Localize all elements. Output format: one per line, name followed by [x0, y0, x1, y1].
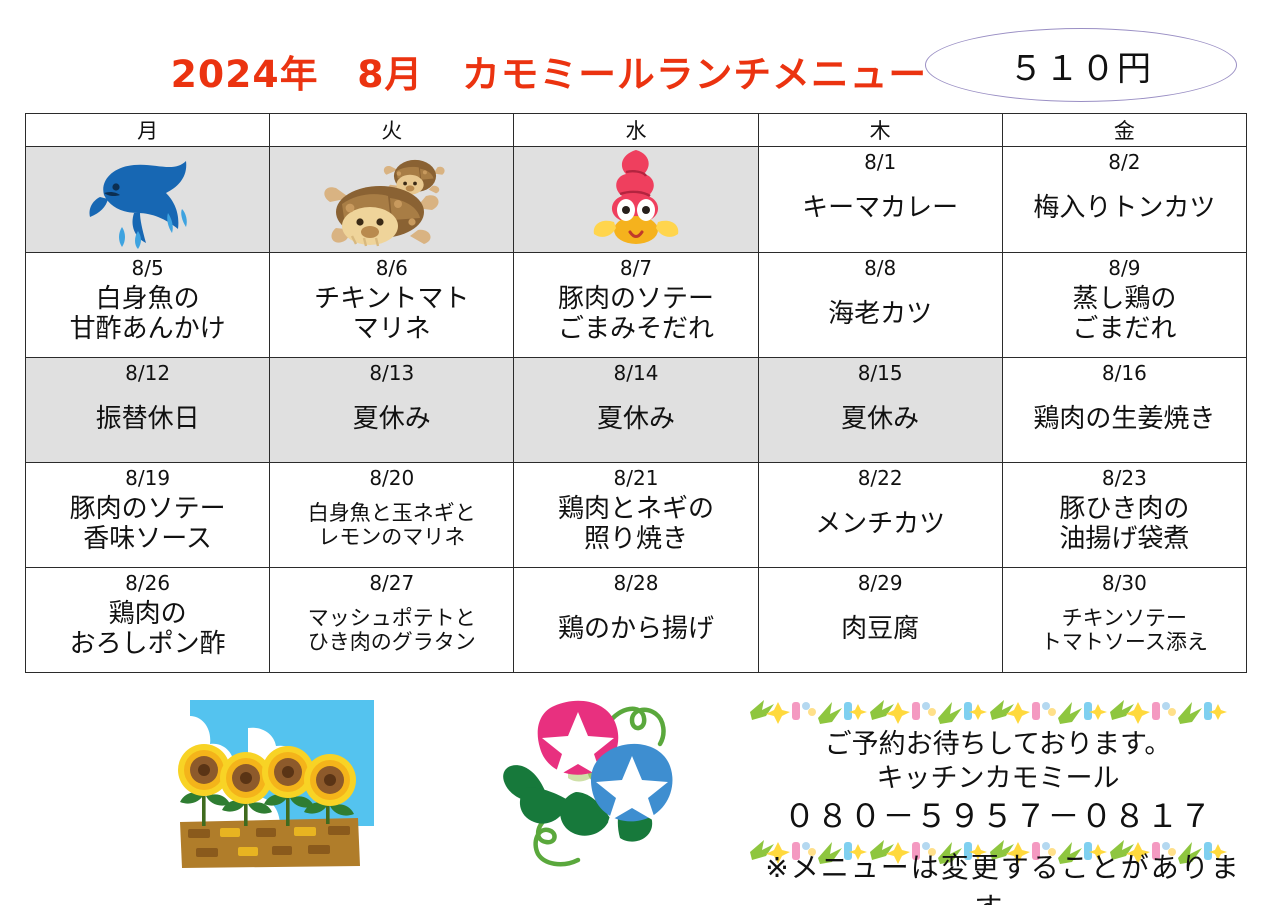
calendar-day-cell: 8/23豚ひき肉の 油揚げ袋煮 — [1002, 463, 1246, 568]
day-number: 8/14 — [514, 358, 757, 384]
day-number: 8/20 — [270, 463, 513, 489]
menu-change-note: ※メニューは変更することがあります。 — [748, 846, 1258, 905]
calendar-day-cell: 8/9蒸し鶏の ごまだれ — [1002, 253, 1246, 358]
calendar-day-cell: 8/5白身魚の 甘酢あんかけ — [26, 253, 270, 358]
phone-number[interactable]: ０８０－５９５７－０８１７ — [748, 796, 1248, 836]
menu-item-label: 鶏肉の おろしポン酢 — [26, 594, 269, 666]
weekday-header-fri: 金 — [1002, 114, 1246, 147]
menu-item-label: チキントマト マリネ — [270, 279, 513, 351]
calendar-week-row: 8/5白身魚の 甘酢あんかけ8/6チキントマト マリネ8/7豚肉のソテー ごまみ… — [26, 253, 1247, 358]
calendar-day-cell: 8/19豚肉のソテー 香味ソース — [26, 463, 270, 568]
calendar-day-cell: 8/15夏休み — [758, 358, 1002, 463]
day-number: 8/2 — [1003, 147, 1246, 173]
crab-shell-illustration-graphic — [514, 147, 757, 252]
day-number: 8/22 — [759, 463, 1002, 489]
menu-item-label: 鶏のから揚げ — [514, 594, 757, 666]
weekday-header-thu: 木 — [758, 114, 1002, 147]
crab-shell-illustration — [514, 147, 758, 253]
calendar-day-cell: 8/29肉豆腐 — [758, 568, 1002, 673]
contact-block: ご予約お待ちしております。 キッチンカモミール ０８０－５９５７－０８１７ — [748, 696, 1248, 866]
sea-turtles-illustration-graphic — [270, 147, 513, 252]
shop-name: キッチンカモミール — [748, 762, 1248, 796]
menu-item-label: 鶏肉とネギの 照り焼き — [514, 489, 757, 561]
page-header: 2024年 8月 カモミールランチメニュー ５１０円 — [0, 0, 1280, 108]
menu-item-label: 豚肉のソテー ごまみそだれ — [514, 279, 757, 351]
menu-item-label: 蒸し鶏の ごまだれ — [1003, 279, 1246, 351]
calendar-day-cell: 8/22メンチカツ — [758, 463, 1002, 568]
menu-item-label: 振替休日 — [26, 384, 269, 456]
calendar-day-cell: 8/27マッシュポテトと ひき肉のグラタン — [270, 568, 514, 673]
day-number: 8/13 — [270, 358, 513, 384]
day-number: 8/26 — [26, 568, 269, 594]
calendar-week-row: 8/26鶏肉の おろしポン酢8/27マッシュポテトと ひき肉のグラタン8/28鶏… — [26, 568, 1247, 673]
day-number: 8/1 — [759, 147, 1002, 173]
menu-item-label: 鶏肉の生姜焼き — [1003, 384, 1246, 456]
menu-item-label: 豚肉のソテー 香味ソース — [26, 489, 269, 561]
day-number: 8/28 — [514, 568, 757, 594]
day-number: 8/12 — [26, 358, 269, 384]
calendar-day-cell: 8/20白身魚と玉ネギと レモンのマリネ — [270, 463, 514, 568]
calendar-day-cell: 8/6チキントマト マリネ — [270, 253, 514, 358]
reservation-message: ご予約お待ちしております。 — [748, 728, 1248, 762]
sunflower-field-illustration — [152, 698, 384, 883]
dolphin-illustration — [26, 147, 270, 253]
day-number: 8/15 — [759, 358, 1002, 384]
menu-item-label: 豚ひき肉の 油揚げ袋煮 — [1003, 489, 1246, 561]
calendar-day-cell: 8/26鶏肉の おろしポン酢 — [26, 568, 270, 673]
menu-item-label: 夏休み — [270, 384, 513, 456]
calendar-day-cell: 8/12振替休日 — [26, 358, 270, 463]
day-number: 8/8 — [759, 253, 1002, 279]
contact-lines: ご予約お待ちしております。 キッチンカモミール ０８０－５９５７－０８１７ — [748, 726, 1248, 836]
menu-item-label: 白身魚の 甘酢あんかけ — [26, 279, 269, 351]
menu-item-label: 梅入りトンカツ — [1003, 173, 1246, 245]
tanabata-decoration-top-icon — [748, 696, 1248, 726]
sea-turtles-illustration — [270, 147, 514, 253]
calendar-day-cell: 8/30チキンソテー トマトソース添え — [1002, 568, 1246, 673]
menu-page: 2024年 8月 カモミールランチメニュー ５１０円 月 火 水 木 金 — [0, 0, 1280, 905]
calendar-day-cell: 8/8海老カツ — [758, 253, 1002, 358]
menu-item-label: 白身魚と玉ネギと レモンのマリネ — [270, 489, 513, 561]
day-number: 8/30 — [1003, 568, 1246, 594]
weekday-header-row: 月 火 水 木 金 — [26, 114, 1247, 147]
calendar-week-row: 8/12振替休日8/13夏休み8/14夏休み8/15夏休み8/16鶏肉の生姜焼き — [26, 358, 1247, 463]
day-number: 8/23 — [1003, 463, 1246, 489]
menu-calendar-table: 月 火 水 木 金 — [25, 113, 1247, 673]
calendar-body: 8/1キーマカレー8/2梅入りトンカツ8/5白身魚の 甘酢あんかけ8/6チキント… — [26, 147, 1247, 673]
day-number: 8/5 — [26, 253, 269, 279]
menu-item-label: チキンソテー トマトソース添え — [1003, 594, 1246, 666]
day-number: 8/29 — [759, 568, 1002, 594]
day-number: 8/9 — [1003, 253, 1246, 279]
calendar-day-cell: 8/21鶏肉とネギの 照り焼き — [514, 463, 758, 568]
day-number: 8/6 — [270, 253, 513, 279]
day-number: 8/16 — [1003, 358, 1246, 384]
menu-item-label: 夏休み — [514, 384, 757, 456]
menu-item-label: 夏休み — [759, 384, 1002, 456]
calendar-day-cell: 8/16鶏肉の生姜焼き — [1002, 358, 1246, 463]
calendar-day-cell: 8/13夏休み — [270, 358, 514, 463]
weekday-header-mon: 月 — [26, 114, 270, 147]
day-number: 8/19 — [26, 463, 269, 489]
page-footer: ご予約お待ちしております。 キッチンカモミール ０８０－５９５７－０８１７ ※メ… — [0, 688, 1280, 905]
menu-item-label: メンチカツ — [759, 489, 1002, 561]
menu-item-label: 海老カツ — [759, 279, 1002, 351]
morning-glory-illustration — [492, 690, 692, 890]
calendar-day-cell: 8/14夏休み — [514, 358, 758, 463]
weekday-header-tue: 火 — [270, 114, 514, 147]
day-number: 8/7 — [514, 253, 757, 279]
weekday-header-wed: 水 — [514, 114, 758, 147]
page-title: 2024年 8月 カモミールランチメニュー — [171, 44, 928, 98]
calendar-week-row: 8/1キーマカレー8/2梅入りトンカツ — [26, 147, 1247, 253]
calendar-week-row: 8/19豚肉のソテー 香味ソース8/20白身魚と玉ネギと レモンのマリネ8/21… — [26, 463, 1247, 568]
calendar-day-cell: 8/1キーマカレー — [758, 147, 1002, 253]
dolphin-illustration-graphic — [26, 147, 269, 252]
day-number: 8/21 — [514, 463, 757, 489]
day-number: 8/27 — [270, 568, 513, 594]
calendar-day-cell: 8/28鶏のから揚げ — [514, 568, 758, 673]
menu-item-label: キーマカレー — [759, 173, 1002, 245]
menu-item-label: マッシュポテトと ひき肉のグラタン — [270, 594, 513, 666]
calendar-day-cell: 8/2梅入りトンカツ — [1002, 147, 1246, 253]
price-badge: ５１０円 — [925, 28, 1237, 102]
menu-item-label: 肉豆腐 — [759, 594, 1002, 666]
price-label: ５１０円 — [926, 29, 1236, 101]
calendar-day-cell: 8/7豚肉のソテー ごまみそだれ — [514, 253, 758, 358]
